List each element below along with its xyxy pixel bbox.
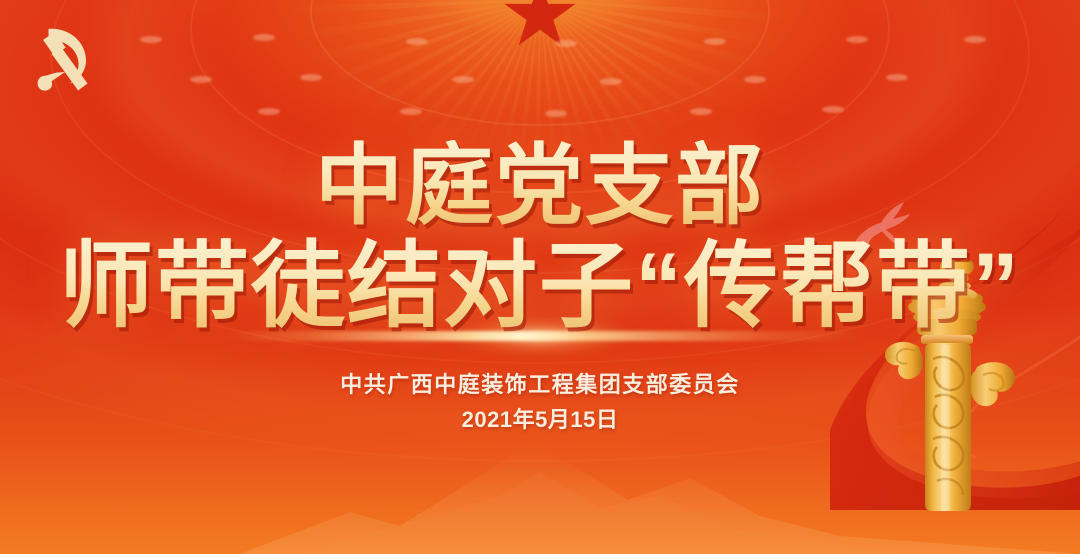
- ceiling-lamp-10: [452, 76, 474, 83]
- ceiling-lamp-3: [406, 38, 428, 45]
- light-flare-streak: [220, 331, 860, 341]
- mountain-silhouette: [0, 404, 1080, 554]
- subtitle-organization: 中共广西中庭装饰工程集团支部委员会: [0, 367, 1080, 399]
- ceiling-lamp-16: [545, 110, 567, 117]
- party-branch-banner: 中庭党支部 师带徒结对子“传帮带” 中共广西中庭装饰工程集团支部委员会 2021…: [0, 0, 1080, 554]
- huabiao-column: [885, 255, 1015, 515]
- ceiling-lamp-5: [704, 38, 726, 45]
- ceiling-ring-4: [0, 0, 1080, 364]
- ceiling-ring-5: [0, 0, 1080, 462]
- ceiling-lamp-6: [846, 36, 868, 43]
- ceiling-dome-band-inner: [70, 0, 1010, 252]
- title-line-2: 师带徒结对子“传帮带”: [0, 237, 1080, 335]
- ceiling-lamp-4: [555, 40, 577, 47]
- subtitle-date: 2021年5月15日: [0, 402, 1080, 434]
- ceiling-lamp-18: [822, 106, 844, 113]
- ceiling-ring-2: [190, 0, 890, 194]
- ceiling-lamp-11: [600, 78, 622, 85]
- ceiling-lamp-8: [190, 76, 212, 83]
- ceiling-dome-band-middle: [0, 0, 1080, 340]
- peace-dove-icon: [848, 196, 918, 258]
- ceiling-lamp-2: [253, 34, 275, 41]
- ceiling-lamp-7: [964, 36, 986, 43]
- title-block: 中庭党支部 师带徒结对子“传帮带” 中共广西中庭装饰工程集团支部委员会 2021…: [0, 0, 1080, 554]
- sunburst-rays: [210, 0, 870, 210]
- ceiling-lamp-1: [140, 36, 162, 43]
- ceiling-lamp-14: [258, 108, 280, 115]
- ceiling-lamp-13: [886, 74, 908, 81]
- ceiling-dome-band-outer: [0, 0, 1080, 470]
- red-silk-ribbon: [830, 180, 1080, 510]
- ceiling-lamp-15: [400, 108, 422, 115]
- ceiling-ring-3: [50, 0, 1030, 274]
- red-star-icon: [503, 0, 577, 52]
- ceiling-lamp-9: [300, 74, 322, 81]
- ceiling-ring-1: [310, 0, 770, 126]
- center-glow: [390, 0, 690, 40]
- title-line-1: 中庭党支部: [0, 140, 1080, 232]
- ceiling-lamp-12: [744, 76, 766, 83]
- ceiling-lamp-17: [690, 108, 712, 115]
- cpc-hammer-sickle-emblem-icon: [22, 18, 100, 96]
- flare-core: [445, 318, 635, 354]
